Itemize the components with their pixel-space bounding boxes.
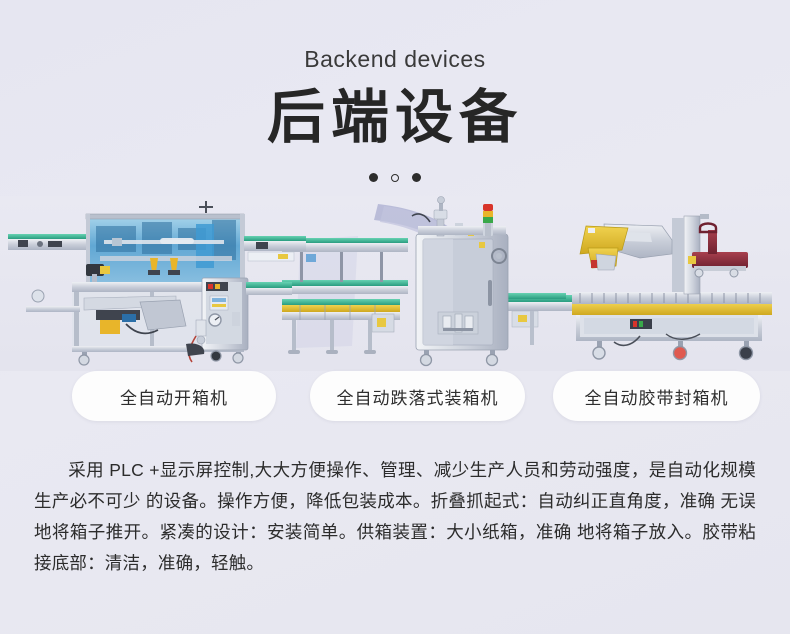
pill-drop-case-packer[interactable]: 全自动跌落式装箱机 [310,371,525,421]
machine-label-row: 全自动开箱机 全自动跌落式装箱机 全自动胶带封箱机 [0,371,790,423]
carousel-dot-2[interactable] [391,174,399,182]
product-detail-page: Backend devices 后端设备 [0,0,790,634]
signal-tower [483,204,493,236]
page-header: Backend devices 后端设备 [0,0,790,182]
description-paragraph: 采用 PLC +显示屏控制,大大方便操作、管理、减少生产人员和劳动强度，是自动化… [34,455,756,579]
carousel-dots[interactable] [0,173,790,182]
product-line-image [0,196,790,371]
page-title: 后端设备 [0,89,790,147]
carousel-dot-1[interactable] [369,173,378,182]
pill-tape-case-sealer[interactable]: 全自动胶带封箱机 [553,371,760,421]
carousel-dot-3[interactable] [412,173,421,182]
description-text: 采用 PLC +显示屏控制,大大方便操作、管理、减少生产人员和劳动强度，是自动化… [34,460,756,573]
page-subtitle-en: Backend devices [0,48,790,71]
pill-carton-erector[interactable]: 全自动开箱机 [72,371,276,421]
